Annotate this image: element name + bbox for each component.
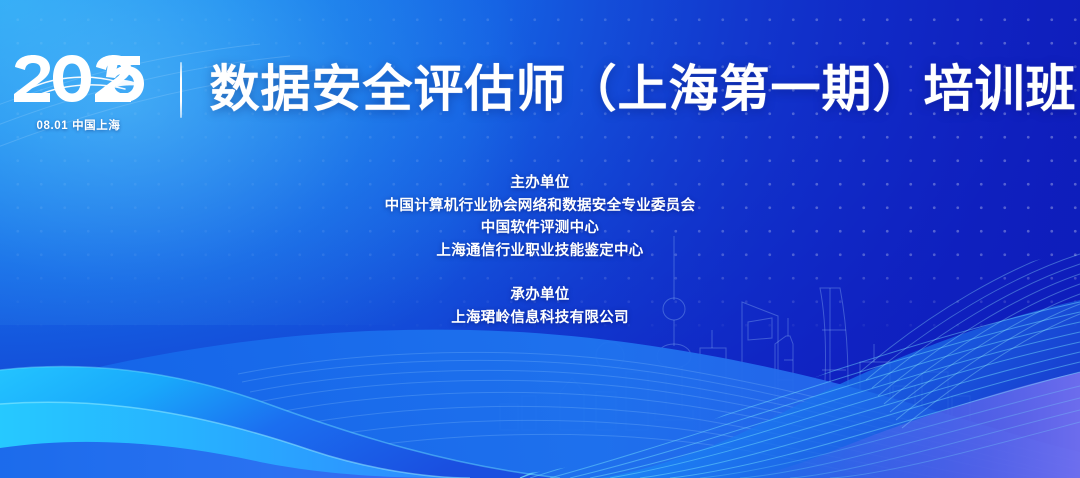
host-item-2: 中国软件评测中心 xyxy=(0,217,1080,240)
logo-2025-icon xyxy=(11,54,147,110)
logo-subtitle: 08.01 中国上海 xyxy=(37,117,121,133)
undertaker-label: 承办单位 xyxy=(0,284,1080,307)
banner-content: 08.01 中国上海 数据安全评估师（上海第一期）培训班 主办单位 中国计算机行… xyxy=(0,0,1080,478)
headline-divider xyxy=(180,62,182,118)
undertaker-item-1: 上海珺岭信息科技有限公司 xyxy=(0,307,1080,330)
year-logo: 08.01 中国上海 xyxy=(4,52,154,133)
headline-row: 08.01 中国上海 数据安全评估师（上海第一期）培训班 xyxy=(0,52,1080,133)
host-item-3: 上海通信行业职业技能鉴定中心 xyxy=(0,240,1080,263)
host-item-1: 中国计算机行业协会网络和数据安全专业委员会 xyxy=(0,195,1080,218)
organizer-block: 主办单位 中国计算机行业协会网络和数据安全专业委员会 中国软件评测中心 上海通信… xyxy=(0,172,1080,329)
event-banner: 08.01 中国上海 数据安全评估师（上海第一期）培训班 主办单位 中国计算机行… xyxy=(0,0,1080,478)
host-group: 主办单位 中国计算机行业协会网络和数据安全专业委员会 中国软件评测中心 上海通信… xyxy=(0,172,1080,262)
organizer-spacer xyxy=(0,262,1080,284)
page-title: 数据安全评估师（上海第一期）培训班 xyxy=(210,64,1077,114)
host-label: 主办单位 xyxy=(0,172,1080,195)
undertaker-group: 承办单位 上海珺岭信息科技有限公司 xyxy=(0,284,1080,329)
